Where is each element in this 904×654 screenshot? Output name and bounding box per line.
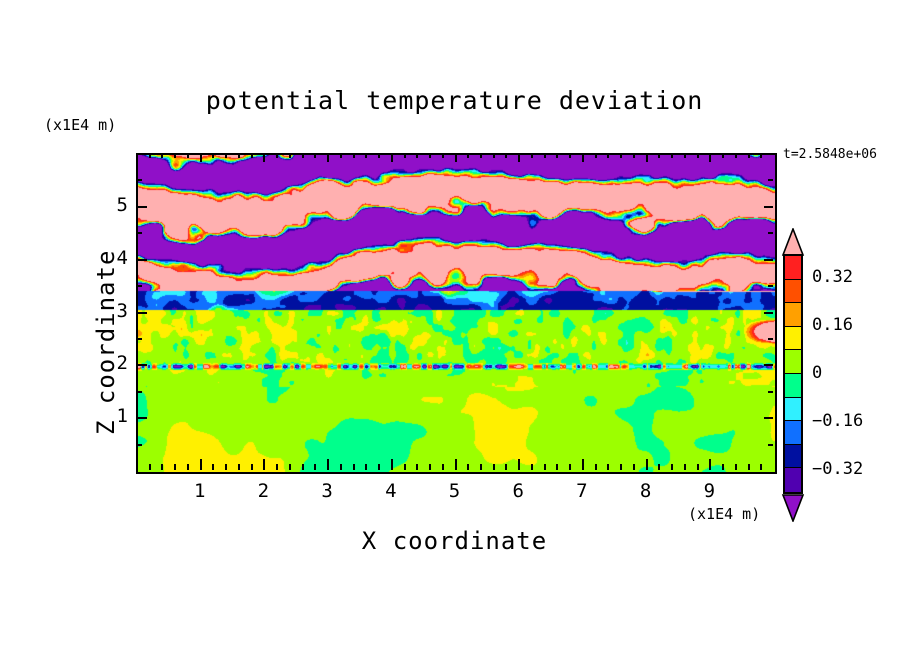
xaxis-minor-tick bbox=[442, 464, 444, 470]
xaxis-minor-tick bbox=[340, 464, 342, 470]
xaxis-minor-tick-top bbox=[365, 153, 367, 158]
xaxis-unit-label: (x1E4 m) bbox=[688, 505, 760, 523]
yaxis-major-tick-right bbox=[764, 206, 773, 208]
xaxis-major-tick bbox=[646, 459, 648, 470]
colorbar-band-0 bbox=[785, 256, 801, 280]
yaxis-tick-label: 3 bbox=[102, 300, 128, 322]
colorbar-band-6 bbox=[785, 398, 801, 422]
xaxis-tick-label: 2 bbox=[248, 480, 278, 502]
xaxis-minor-tick bbox=[149, 464, 151, 470]
colorbar-label: 0.16 bbox=[812, 315, 853, 335]
yaxis-minor-tick-right bbox=[768, 338, 773, 340]
xaxis-minor-tick-top bbox=[187, 153, 189, 158]
colorbar bbox=[781, 228, 807, 520]
yaxis-tick-label: 2 bbox=[102, 352, 128, 374]
xaxis-major-tick-top bbox=[646, 153, 648, 162]
colorbar-label: −0.16 bbox=[812, 411, 863, 431]
yaxis-major-tick-right bbox=[764, 364, 773, 366]
xaxis-minor-tick-top bbox=[748, 153, 750, 158]
xaxis-minor-tick bbox=[289, 464, 291, 470]
xaxis-minor-tick-top bbox=[174, 153, 176, 158]
xaxis-minor-tick bbox=[276, 464, 278, 470]
xaxis-minor-tick-top bbox=[531, 153, 533, 158]
xaxis-major-tick bbox=[709, 459, 711, 470]
yaxis-minor-tick-right bbox=[768, 232, 773, 234]
yaxis-major-tick bbox=[136, 312, 147, 314]
potential-temperature-field bbox=[138, 155, 775, 472]
xaxis-minor-tick bbox=[378, 464, 380, 470]
xaxis-major-tick bbox=[327, 459, 329, 470]
xaxis-tick-label: 7 bbox=[567, 480, 597, 502]
xaxis-minor-tick bbox=[697, 464, 699, 470]
xaxis-minor-tick bbox=[212, 464, 214, 470]
yaxis-unit-label: (x1E4 m) bbox=[44, 116, 116, 134]
xaxis-minor-tick-top bbox=[480, 153, 482, 158]
xaxis-minor-tick bbox=[302, 464, 304, 470]
xaxis-minor-tick-top bbox=[251, 153, 253, 158]
yaxis-minor-tick bbox=[136, 444, 142, 446]
yaxis-minor-tick bbox=[136, 285, 142, 287]
xaxis-minor-tick-top bbox=[697, 153, 699, 158]
xaxis-minor-tick bbox=[658, 464, 660, 470]
xaxis-minor-tick bbox=[505, 464, 507, 470]
xaxis-minor-tick-top bbox=[620, 153, 622, 158]
xaxis-minor-tick-top bbox=[607, 153, 609, 158]
xaxis-major-tick bbox=[391, 459, 393, 470]
colorbar-label: −0.32 bbox=[812, 459, 863, 479]
xaxis-minor-tick bbox=[480, 464, 482, 470]
xaxis-minor-tick-top bbox=[378, 153, 380, 158]
xaxis-minor-tick-top bbox=[569, 153, 571, 158]
xaxis-tick-label: 4 bbox=[376, 480, 406, 502]
xaxis-major-tick-top bbox=[327, 153, 329, 162]
xaxis-major-tick bbox=[582, 459, 584, 470]
xaxis-minor-tick-top bbox=[429, 153, 431, 158]
xaxis-minor-tick-top bbox=[161, 153, 163, 158]
xaxis-minor-tick bbox=[416, 464, 418, 470]
yaxis-major-tick bbox=[136, 259, 147, 261]
xaxis-minor-tick bbox=[633, 464, 635, 470]
xaxis-minor-tick bbox=[735, 464, 737, 470]
xaxis-minor-tick-top bbox=[556, 153, 558, 158]
yaxis-minor-tick-right bbox=[768, 391, 773, 393]
colorbar-over-arrow bbox=[781, 228, 805, 256]
xaxis-major-tick bbox=[200, 459, 202, 470]
colorbar-band-2 bbox=[785, 303, 801, 327]
xaxis-major-tick-top bbox=[518, 153, 520, 162]
xaxis-minor-tick-top bbox=[467, 153, 469, 158]
xaxis-minor-tick bbox=[467, 464, 469, 470]
xaxis-minor-tick-top bbox=[340, 153, 342, 158]
yaxis-tick-label: 1 bbox=[102, 405, 128, 427]
yaxis-major-tick bbox=[136, 206, 147, 208]
colorbar-label: 0.32 bbox=[812, 267, 853, 287]
xaxis-minor-tick bbox=[429, 464, 431, 470]
xaxis-minor-tick bbox=[722, 464, 724, 470]
yaxis-minor-tick bbox=[136, 179, 142, 181]
colorbar-label: 0 bbox=[812, 363, 822, 383]
yaxis-minor-tick-right bbox=[768, 285, 773, 287]
xaxis-minor-tick-top bbox=[671, 153, 673, 158]
xaxis-minor-tick bbox=[531, 464, 533, 470]
colorbar-band-5 bbox=[785, 374, 801, 398]
xaxis-minor-tick-top bbox=[735, 153, 737, 158]
xaxis-major-tick-top bbox=[391, 153, 393, 162]
xaxis-minor-tick bbox=[225, 464, 227, 470]
colorbar-under-arrow bbox=[781, 494, 805, 522]
xaxis-tick-label: 5 bbox=[440, 480, 470, 502]
xaxis-minor-tick-top bbox=[595, 153, 597, 158]
xaxis-minor-tick-top bbox=[289, 153, 291, 158]
xaxis-minor-tick bbox=[544, 464, 546, 470]
xaxis-minor-tick-top bbox=[633, 153, 635, 158]
xaxis-minor-tick-top bbox=[404, 153, 406, 158]
xaxis-minor-tick bbox=[760, 464, 762, 470]
colorbar-band-4 bbox=[785, 350, 801, 374]
xaxis-major-tick bbox=[455, 459, 457, 470]
xaxis-minor-tick bbox=[365, 464, 367, 470]
yaxis-major-tick-right bbox=[764, 259, 773, 261]
xaxis-minor-tick-top bbox=[722, 153, 724, 158]
xaxis-minor-tick-top bbox=[493, 153, 495, 158]
yaxis-tick-label: 4 bbox=[102, 247, 128, 269]
xaxis-minor-tick-top bbox=[760, 153, 762, 158]
yaxis-major-tick bbox=[136, 364, 147, 366]
xaxis-tick-label: 3 bbox=[312, 480, 342, 502]
xaxis-tick-label: 9 bbox=[694, 480, 724, 502]
xaxis-minor-tick bbox=[314, 464, 316, 470]
xaxis-minor-tick bbox=[161, 464, 163, 470]
xaxis-major-tick bbox=[518, 459, 520, 470]
xaxis-minor-tick bbox=[174, 464, 176, 470]
colorbar-band-9 bbox=[785, 468, 801, 492]
yaxis-minor-tick-right bbox=[768, 444, 773, 446]
xaxis-minor-tick bbox=[595, 464, 597, 470]
page-title: potential temperature deviation bbox=[136, 86, 773, 115]
xaxis-minor-tick bbox=[556, 464, 558, 470]
xaxis-minor-tick-top bbox=[276, 153, 278, 158]
xaxis-tick-label: 1 bbox=[185, 480, 215, 502]
xaxis-minor-tick bbox=[684, 464, 686, 470]
yaxis-minor-tick-right bbox=[768, 179, 773, 181]
xaxis-major-tick-top bbox=[200, 153, 202, 162]
xaxis-tick-label: 6 bbox=[503, 480, 533, 502]
contour-plot-area bbox=[136, 153, 777, 474]
xaxis-minor-tick bbox=[404, 464, 406, 470]
figure-canvas: potential temperature deviation (x1E4 m)… bbox=[0, 0, 904, 654]
yaxis-minor-tick bbox=[136, 232, 142, 234]
xaxis-minor-tick bbox=[353, 464, 355, 470]
xaxis-minor-tick-top bbox=[658, 153, 660, 158]
xaxis-minor-tick-top bbox=[212, 153, 214, 158]
xaxis-minor-tick-top bbox=[225, 153, 227, 158]
xaxis-minor-tick-top bbox=[442, 153, 444, 158]
colorbar-bands bbox=[783, 254, 803, 494]
xaxis-title: X coordinate bbox=[136, 527, 773, 555]
colorbar-band-1 bbox=[785, 280, 801, 304]
colorbar-band-8 bbox=[785, 445, 801, 469]
xaxis-minor-tick-top bbox=[302, 153, 304, 158]
xaxis-major-tick-top bbox=[709, 153, 711, 162]
xaxis-minor-tick bbox=[620, 464, 622, 470]
xaxis-minor-tick-top bbox=[544, 153, 546, 158]
xaxis-minor-tick-top bbox=[505, 153, 507, 158]
xaxis-minor-tick-top bbox=[314, 153, 316, 158]
xaxis-minor-tick-top bbox=[238, 153, 240, 158]
xaxis-major-tick bbox=[263, 459, 265, 470]
xaxis-minor-tick bbox=[493, 464, 495, 470]
xaxis-minor-tick-top bbox=[149, 153, 151, 158]
xaxis-tick-label: 8 bbox=[631, 480, 661, 502]
xaxis-minor-tick-top bbox=[416, 153, 418, 158]
yaxis-tick-label: 5 bbox=[102, 194, 128, 216]
yaxis-major-tick-right bbox=[764, 417, 773, 419]
colorbar-band-3 bbox=[785, 327, 801, 351]
xaxis-minor-tick-top bbox=[684, 153, 686, 158]
yaxis-minor-tick bbox=[136, 391, 142, 393]
xaxis-minor-tick bbox=[238, 464, 240, 470]
yaxis-major-tick-right bbox=[764, 312, 773, 314]
xaxis-minor-tick bbox=[671, 464, 673, 470]
yaxis-major-tick bbox=[136, 417, 147, 419]
timestamp-annotation: t=2.5848e+06 bbox=[783, 147, 877, 162]
xaxis-major-tick-top bbox=[455, 153, 457, 162]
xaxis-minor-tick bbox=[569, 464, 571, 470]
yaxis-minor-tick bbox=[136, 338, 142, 340]
xaxis-major-tick-top bbox=[263, 153, 265, 162]
xaxis-minor-tick bbox=[748, 464, 750, 470]
xaxis-minor-tick bbox=[187, 464, 189, 470]
xaxis-major-tick-top bbox=[582, 153, 584, 162]
xaxis-minor-tick bbox=[251, 464, 253, 470]
xaxis-minor-tick-top bbox=[353, 153, 355, 158]
colorbar-band-7 bbox=[785, 421, 801, 445]
xaxis-minor-tick bbox=[607, 464, 609, 470]
